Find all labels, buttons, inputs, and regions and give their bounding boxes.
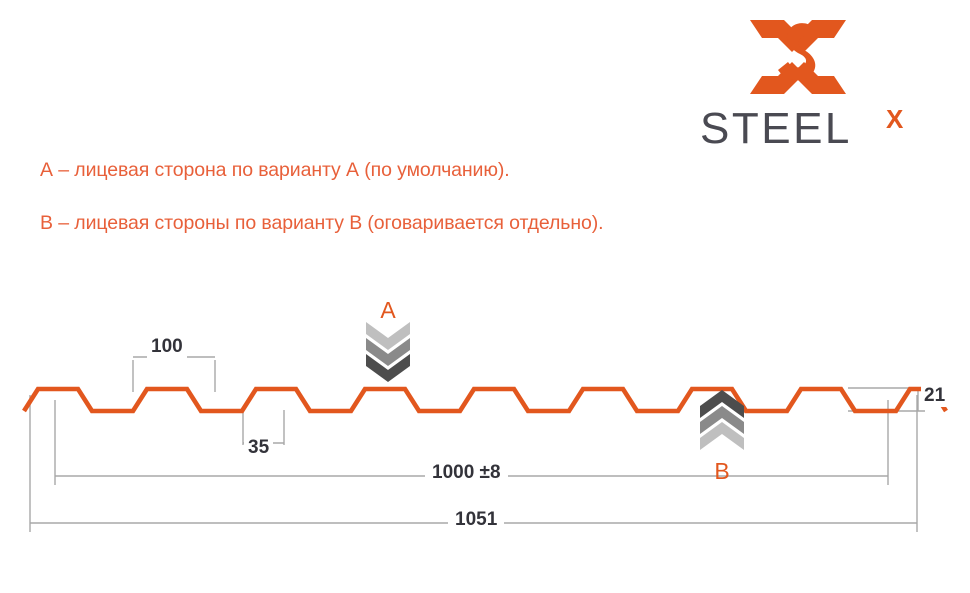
- dimension-label-total-width: 1051: [448, 509, 504, 531]
- marker-b-label: В: [702, 458, 742, 485]
- profile-technical-drawing: [0, 0, 970, 593]
- drawing-canvas: STEEL X А – лицевая сторона по варианту …: [0, 0, 970, 593]
- dimension-label-rib-height: 21: [921, 385, 948, 407]
- dimension-label-valley-width: 35: [244, 437, 273, 459]
- dimension-label-pitch: 100: [147, 336, 187, 358]
- dimension-label-effective-width: 1000 ±8: [425, 462, 508, 484]
- marker-a-chevrons: [366, 322, 410, 382]
- dimension-lines: [30, 357, 925, 532]
- sheet-profile-outline: [24, 389, 946, 411]
- marker-a-label: А: [368, 297, 408, 324]
